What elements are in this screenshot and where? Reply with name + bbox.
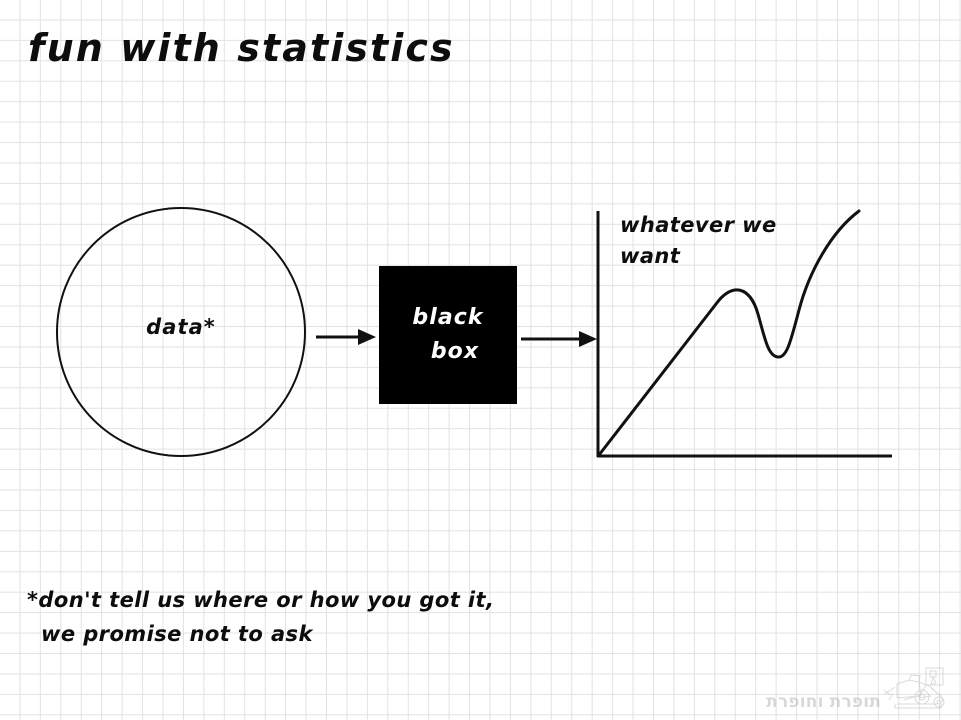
arrow-right-icon: [519, 328, 599, 350]
data-circle: data*: [56, 207, 306, 457]
watermark: תופרת וחופרת: [766, 664, 953, 716]
footnote-line-1: *don't tell us where or how you got it,: [27, 583, 494, 617]
black-box-label-line-1: black: [412, 301, 483, 335]
black-box-label-line-2: box: [417, 335, 479, 369]
footnote-line-2: we promise not to ask: [27, 617, 494, 651]
chart-annotation-line-2: want: [620, 241, 777, 272]
watermark-text: תופרת וחופרת: [766, 692, 881, 716]
chart-annotation-line-1: whatever we: [620, 210, 777, 241]
chart-annotation: whatever we want: [620, 210, 777, 272]
page-title: fun with statistics: [28, 24, 455, 72]
black-box: black box: [379, 266, 517, 404]
data-circle-label: data*: [56, 315, 306, 339]
digger-illustration-icon: [883, 664, 953, 716]
arrow-right-icon: [314, 326, 378, 348]
slide-canvas: fun with statistics data* black box what…: [0, 0, 961, 720]
footnote: *don't tell us where or how you got it, …: [27, 583, 494, 651]
